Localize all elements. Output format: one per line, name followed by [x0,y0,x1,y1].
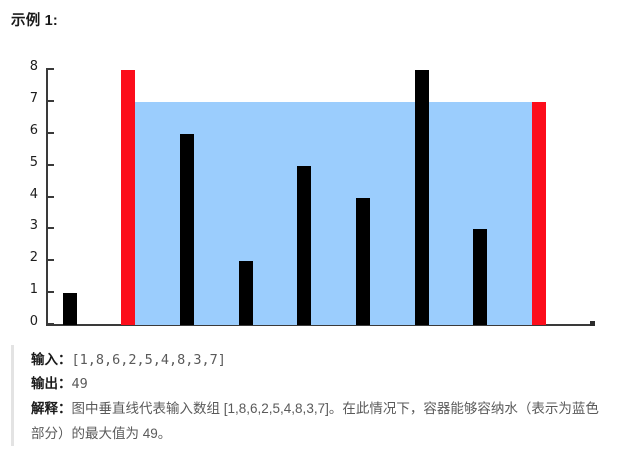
y-axis-tick-label: 8 [16,59,38,74]
bar-7 [415,70,429,325]
y-axis-tick-label: 5 [16,155,38,170]
output-line: 输出：49 [31,372,611,396]
y-axis-tick-label: 2 [16,250,38,265]
input-value: [1,8,6,2,5,4,8,3,7] [72,352,226,368]
y-axis-tick-label: 0 [16,314,38,329]
bar-3 [180,134,194,325]
explanation-block: 输入：[1,8,6,2,5,4,8,3,7] 输出：49 解释：图中垂直线代表输… [11,345,611,446]
output-value: 49 [72,376,88,392]
y-axis-tick-label: 6 [16,123,38,138]
bar-8 [473,229,487,325]
note-label: 解释： [31,401,72,416]
note-text: 图中垂直线代表输入数组 [1,8,6,2,5,4,8,3,7]。在此情况下，容器… [31,401,599,441]
plot-area [46,68,594,325]
output-label: 输出： [31,376,72,391]
note-line: 解释：图中垂直线代表输入数组 [1,8,6,2,5,4,8,3,7]。在此情况下… [31,396,611,446]
bar-6 [356,198,370,326]
input-line: 输入：[1,8,6,2,5,4,8,3,7] [31,348,611,372]
input-label: 输入： [31,352,72,367]
bar-2 [121,70,135,325]
y-axis-tick-label: 3 [16,218,38,233]
bar-chart: 012345678 [0,0,620,345]
y-axis-tick-label: 7 [16,91,38,106]
bar-9 [532,102,546,325]
bar-4 [239,261,253,325]
y-axis-tick-label: 1 [16,282,38,297]
y-axis-tick-label: 4 [16,187,38,202]
bar-1 [63,293,77,325]
bar-5 [297,166,311,325]
